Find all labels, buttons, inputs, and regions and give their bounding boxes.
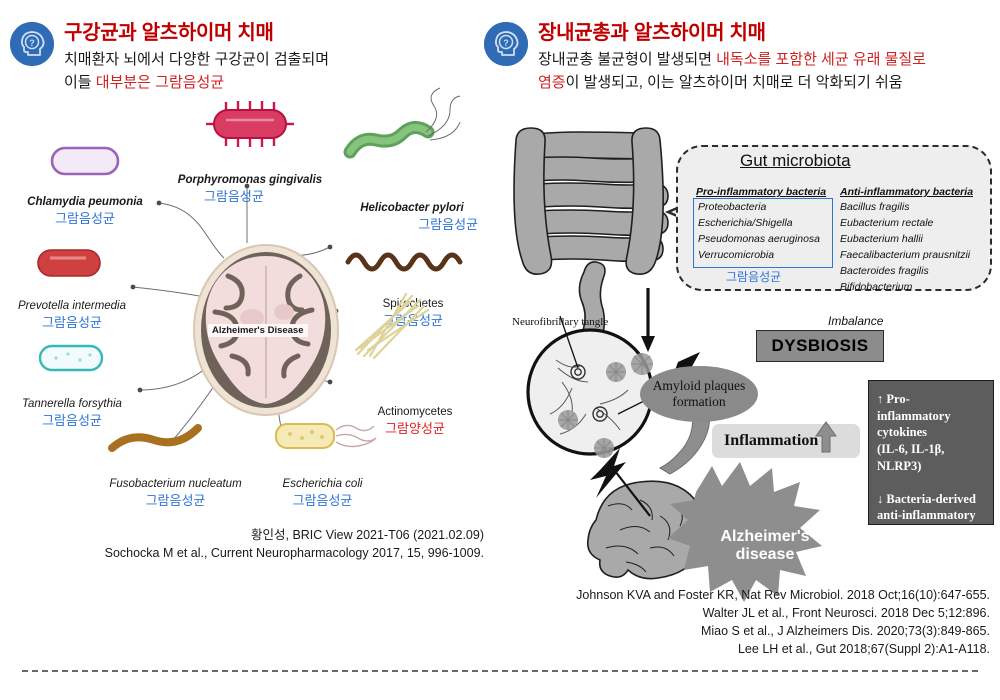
bacteria-node-chlamydia: Chlamydia peumonia 그람음성균 <box>10 196 160 227</box>
left-citations: 황인성, BRIC View 2021-T06 (2021.02.09) Soc… <box>0 526 484 562</box>
bacteria-node-tannerella: Tannerella forsythia 그람음성균 <box>2 398 142 429</box>
helicobacter-glyph <box>332 168 492 170</box>
citation-line: Lee LH et al., Gut 2018;67(Suppl 2):A1-A… <box>500 640 990 658</box>
bacteria-gram: 그람음성균 <box>2 315 142 331</box>
bacteria-name: Tannerella forsythia <box>2 398 142 412</box>
bacteria-name: Helicobacter pylori <box>332 202 492 216</box>
ecoli-glyph <box>250 450 420 452</box>
bacteria-gram: 그람음성균 <box>2 413 142 429</box>
bacteria-node-prevotella: Prevotella intermedia 그람음성균 <box>2 300 142 331</box>
bacteria-name: Prevotella intermedia <box>2 300 142 314</box>
bacteria-name: Escherichia coli <box>250 478 395 492</box>
right-panel: ? 장내균총과 알츠하이머 치매 장내균총 불균형이 발생되면 내독소를 포함한… <box>500 0 1000 700</box>
bacteria-gram: 그람음성균 <box>332 217 492 233</box>
chlamydia-glyph <box>10 170 160 172</box>
bottom-divider <box>22 670 978 672</box>
bacteria-name: Actinomycetes <box>340 406 490 420</box>
porphyromonas-glyph <box>170 144 330 146</box>
citation-line: Johnson KVA and Foster KR, Nat Rev Micro… <box>500 586 990 604</box>
bacteria-gram: 그람양성균 <box>340 421 490 437</box>
actinomycetes-glyph <box>340 350 490 352</box>
bacteria-name: Porphyromonas gingivalis <box>170 174 330 188</box>
brain-center-label: Alzheimer's Disease <box>208 324 308 337</box>
citation-line: Walter JL et al., Front Neurosci. 2018 D… <box>500 604 990 622</box>
citation-line: Sochocka M et al., Current Neuropharmaco… <box>0 544 484 562</box>
citation-line: Miao S et al., J Alzheimers Dis. 2020;73… <box>500 622 990 640</box>
left-panel: ? 구강균과 알츠하이머 치매 치매환자 뇌에서 다양한 구강균이 검출되며 이… <box>0 0 500 700</box>
right-citations: Johnson KVA and Foster KR, Nat Rev Micro… <box>500 586 990 659</box>
spirochetes-glyph <box>338 276 488 278</box>
bacteria-gram: 그람음성균 <box>10 211 160 227</box>
bacteria-node-spirochetes: Spirochetes 그람음성균 <box>338 298 488 329</box>
bacteria-node-porphyromonas: Porphyromonas gingivalis 그람음성균 <box>170 174 330 205</box>
bacteria-node-fusobacterium: Fusobacterium nucleatum 그람음성균 <box>88 478 263 509</box>
citation-line: 황인성, BRIC View 2021-T06 (2021.02.09) <box>0 526 484 544</box>
bacteria-gram: 그람음성균 <box>170 189 330 205</box>
bacteria-gram: 그람음성균 <box>250 493 395 509</box>
tannerella-glyph <box>2 372 142 374</box>
bacteria-name: Chlamydia peumonia <box>10 196 160 210</box>
prevotella-glyph <box>2 274 142 276</box>
alzheimers-disease-label: Alzheimer's disease <box>690 492 840 600</box>
bacteria-gram: 그람음성균 <box>88 493 263 509</box>
bacteria-node-ecoli: Escherichia coli 그람음성균 <box>250 478 395 509</box>
fusobacterium-glyph <box>88 456 263 458</box>
bacteria-name: Fusobacterium nucleatum <box>88 478 263 492</box>
bacteria-node-actinomycetes: Actinomycetes 그람양성균 <box>340 406 490 437</box>
bacteria-node-helicobacter: Helicobacter pylori 그람음성균 <box>332 202 492 233</box>
